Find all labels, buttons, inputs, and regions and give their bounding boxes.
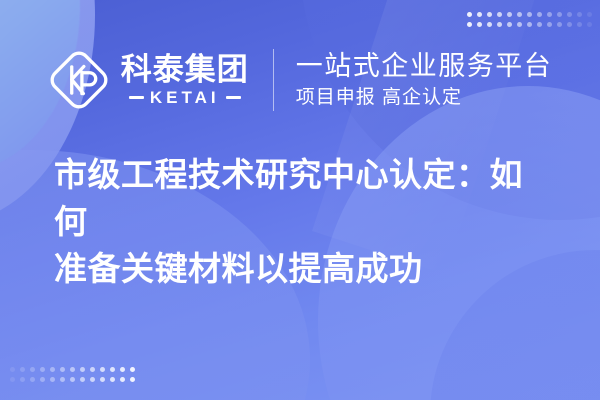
decor-dot (537, 12, 542, 17)
decor-dot (130, 367, 135, 372)
decor-dot (547, 22, 552, 27)
dot-row (10, 377, 135, 382)
ketai-diamond-kp-monogram-icon (48, 49, 110, 111)
brand-logo-wordmark: 科泰集团 KETAI (121, 54, 249, 107)
decor-dot (60, 377, 65, 382)
decor-dot (517, 12, 522, 17)
decor-dot (50, 377, 55, 382)
decor-dot (10, 377, 15, 382)
decor-dot (567, 22, 572, 27)
decor-dot (557, 12, 562, 17)
decor-dot (557, 22, 562, 27)
decor-dot (90, 377, 95, 382)
decor-dot (40, 367, 45, 372)
dot-row (10, 367, 135, 372)
banner-header: 科泰集团 KETAI 一站式企业服务平台 项目申报 高企认定 (0, 38, 600, 122)
decor-dot (527, 12, 532, 17)
decor-dot (587, 12, 592, 17)
logo-dash-right-icon (226, 96, 241, 99)
tagline-primary: 一站式企业服务平台 (296, 50, 553, 83)
dot-row (467, 22, 592, 27)
decor-dot (80, 367, 85, 372)
decor-dot (507, 12, 512, 17)
decor-dot (567, 12, 572, 17)
decor-dot (477, 22, 482, 27)
decor-dot (20, 377, 25, 382)
decor-dot (100, 377, 105, 382)
decor-dot (577, 22, 582, 27)
dot-row (467, 12, 592, 17)
decor-dot (507, 22, 512, 27)
decor-dot (110, 377, 115, 382)
decor-dot (547, 12, 552, 17)
brand-logo[interactable]: 科泰集团 KETAI (48, 49, 249, 111)
decor-dot (10, 367, 15, 372)
decor-dot (90, 367, 95, 372)
decor-dot (100, 367, 105, 372)
brand-name-en-row: KETAI (129, 89, 241, 106)
decor-dot (120, 367, 125, 372)
decor-dot (487, 12, 492, 17)
decor-dot (537, 22, 542, 27)
decor-dot (70, 367, 75, 372)
brand-name-en: KETAI (150, 89, 220, 106)
tagline-block: 一站式企业服务平台 项目申报 高企认定 (296, 50, 553, 111)
dot-grid-top-right (467, 12, 592, 27)
decor-dot (50, 367, 55, 372)
decor-dot (587, 22, 592, 27)
decor-dot (30, 377, 35, 382)
decor-dot (70, 377, 75, 382)
header-divider (273, 49, 274, 111)
promo-banner: 科泰集团 KETAI 一站式企业服务平台 项目申报 高企认定 市级工程技术研究中… (0, 0, 600, 400)
logo-dash-left-icon (129, 96, 144, 99)
decor-dot (120, 377, 125, 382)
decor-dot (577, 12, 582, 17)
decor-dot (517, 22, 522, 27)
decor-dot (497, 22, 502, 27)
decor-dot (527, 22, 532, 27)
brand-name-cn: 科泰集团 (121, 54, 249, 87)
decor-dot (40, 377, 45, 382)
decor-dot (467, 22, 472, 27)
decor-dot (80, 377, 85, 382)
decor-dot (487, 22, 492, 27)
decor-dot (30, 367, 35, 372)
decor-dot (130, 377, 135, 382)
decor-dot (20, 367, 25, 372)
decor-dot (477, 12, 482, 17)
page-title: 市级工程技术研究中心认定：如何 准备关键材料以提高成功 (54, 152, 554, 293)
decor-dot (110, 367, 115, 372)
dot-grid-bottom-left (10, 367, 135, 382)
decor-dot (60, 367, 65, 372)
decor-dot (467, 12, 472, 17)
tagline-secondary: 项目申报 高企认定 (296, 86, 553, 111)
decor-dot (497, 12, 502, 17)
